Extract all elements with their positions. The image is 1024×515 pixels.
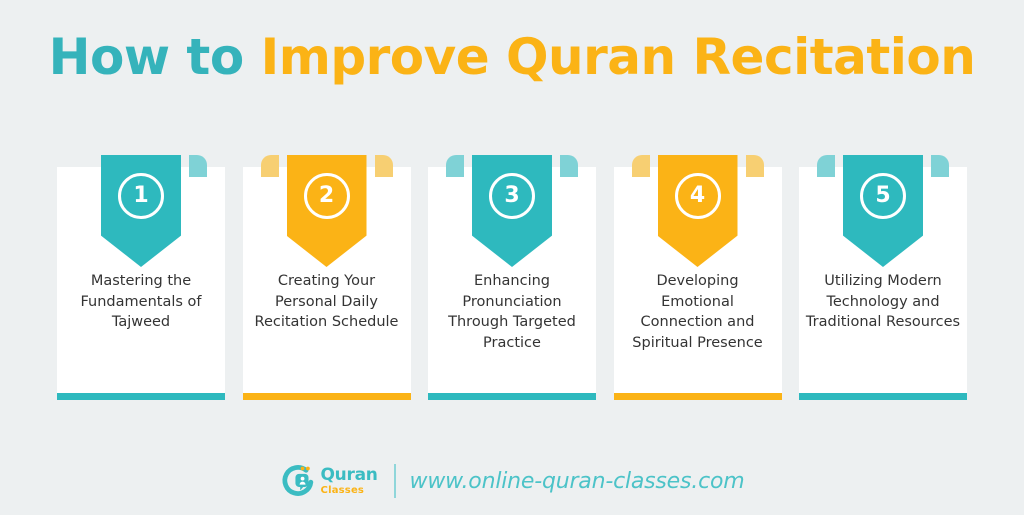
logo-wordmark: Quran Classes (321, 467, 378, 496)
steps-card-row: 1 Mastering the Fundamentals of Tajweed … (57, 167, 967, 400)
step-number-2: 2 (304, 173, 350, 219)
step-number-4: 4 (675, 173, 721, 219)
card-accent-bar-4 (614, 393, 782, 400)
footer: Quran Classes www.online-quran-classes.c… (0, 462, 1024, 500)
quran-classes-logo-icon (280, 462, 318, 500)
card-accent-bar-1 (57, 393, 225, 400)
step-number-1: 1 (118, 173, 164, 219)
step-title-1: Mastering the Fundamentals of Tajweed (63, 271, 219, 333)
step-card-3[interactable]: 3 Enhancing Pronunciation Through Target… (428, 167, 596, 400)
step-title-3: Enhancing Pronunciation Through Targeted… (434, 271, 590, 353)
step-ribbon-2: 2 (275, 155, 379, 267)
step-number-5: 5 (860, 173, 906, 219)
page-title: How to Improve Quran Recitation (0, 30, 1024, 85)
ribbon-fold-right-icon (375, 155, 393, 177)
footer-divider (394, 464, 396, 498)
ribbon-fold-right-icon (746, 155, 764, 177)
step-title-4: Developing Emotional Connection and Spir… (620, 271, 776, 353)
page-title-text: How to Improve Quran Recitation (0, 30, 1024, 85)
step-card-4[interactable]: 4 Developing Emotional Connection and Sp… (614, 167, 782, 400)
page-title-part-1: How to (49, 28, 261, 86)
step-ribbon-4: 4 (646, 155, 750, 267)
logo-secondary-text: Classes (321, 486, 365, 496)
website-url[interactable]: www.online-quran-classes.com (410, 469, 745, 494)
ribbon-fold-left-icon (632, 155, 650, 177)
step-ribbon-5: 5 (831, 155, 935, 267)
ribbon-fold-right-icon (560, 155, 578, 177)
card-accent-bar-3 (428, 393, 596, 400)
step-ribbon-3: 3 (460, 155, 564, 267)
step-card-5[interactable]: 5 Utilizing Modern Technology and Tradit… (799, 167, 967, 400)
logo-primary-text: Quran (321, 467, 378, 484)
page-title-part-2: Improve Quran Recitation (261, 28, 976, 86)
step-title-2: Creating Your Personal Daily Recitation … (249, 271, 405, 333)
step-ribbon-1: 1 (89, 155, 193, 267)
ribbon-fold-left-icon (817, 155, 835, 177)
ribbon-fold-left-icon (446, 155, 464, 177)
ribbon-fold-right-icon (931, 155, 949, 177)
step-number-3: 3 (489, 173, 535, 219)
ribbon-fold-left-icon (261, 155, 279, 177)
step-card-1[interactable]: 1 Mastering the Fundamentals of Tajweed (57, 167, 225, 400)
card-accent-bar-2 (243, 393, 411, 400)
step-card-2[interactable]: 2 Creating Your Personal Daily Recitatio… (243, 167, 411, 400)
card-accent-bar-5 (799, 393, 967, 400)
ribbon-fold-right-icon (189, 155, 207, 177)
step-title-5: Utilizing Modern Technology and Traditio… (805, 271, 961, 333)
